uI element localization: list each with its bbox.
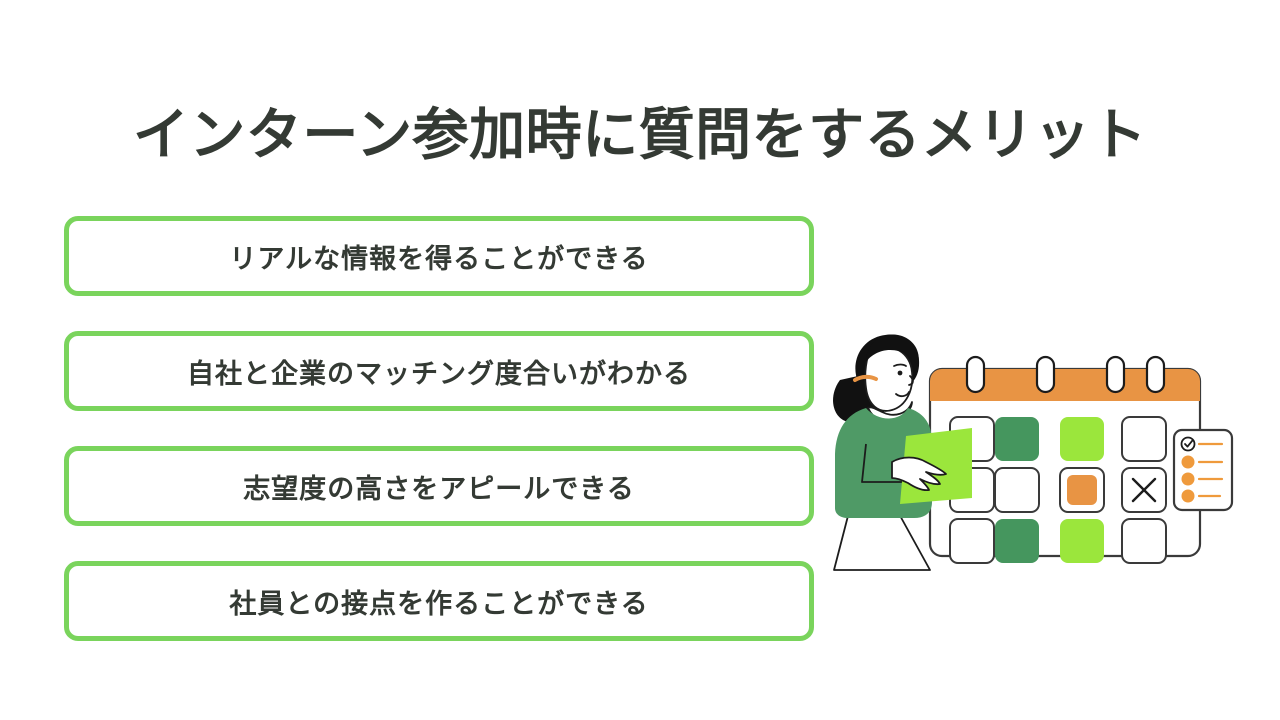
slide-root: インターン参加時に質問をするメリット リアルな情報を得ることができる 自社と企業… [0, 0, 1280, 720]
woman-eye [898, 371, 903, 376]
checklist-card [1174, 430, 1232, 510]
merit-label-4: 社員との接点を作ることができる [229, 582, 648, 621]
merit-label-1: リアルな情報を得ることができる [229, 237, 648, 276]
merit-label-3: 志望度の高さをアピールできる [243, 467, 634, 506]
calendar-cell-r3c1 [950, 519, 994, 563]
calendar-cell-r3c4 [1122, 519, 1166, 563]
checklist-bullet-4 [1182, 490, 1195, 503]
calendar-cell-r3c3-lime [1060, 519, 1104, 563]
merit-box-3: 志望度の高さをアピールできる [64, 446, 814, 526]
illustration-woman-with-calendar [822, 322, 1242, 602]
merit-box-2: 自社と企業のマッチング度合いがわかる [64, 331, 814, 411]
calendar-cell-r3c2-dark-green [995, 519, 1039, 563]
calendar-ring-2 [1037, 357, 1054, 392]
merit-list: リアルな情報を得ることができる 自社と企業のマッチング度合いがわかる 志望度の高… [64, 216, 814, 641]
merit-box-1: リアルな情報を得ることができる [64, 216, 814, 296]
calendar-cell-r1c3-lime [1060, 417, 1104, 461]
merit-label-2: 自社と企業のマッチング度合いがわかる [187, 352, 691, 391]
calendar-cell-r2c3-orange [1067, 475, 1097, 505]
checklist-bullet-3 [1182, 473, 1195, 486]
page-title: インターン参加時に質問をするメリット [0, 100, 1280, 172]
checklist-bullet-2 [1182, 456, 1195, 469]
calendar-cell-r1c4 [1122, 417, 1166, 461]
calendar-ring-1 [967, 357, 984, 392]
calendar-cell-r1c2-dark-green [995, 417, 1039, 461]
calendar-ring-4 [1147, 357, 1164, 392]
calendar-ring-3 [1107, 357, 1124, 392]
calendar-cell-r2c2 [995, 468, 1039, 512]
merit-box-4: 社員との接点を作ることができる [64, 561, 814, 641]
check-circle-icon [1182, 438, 1195, 451]
woman-skirt [834, 512, 930, 570]
